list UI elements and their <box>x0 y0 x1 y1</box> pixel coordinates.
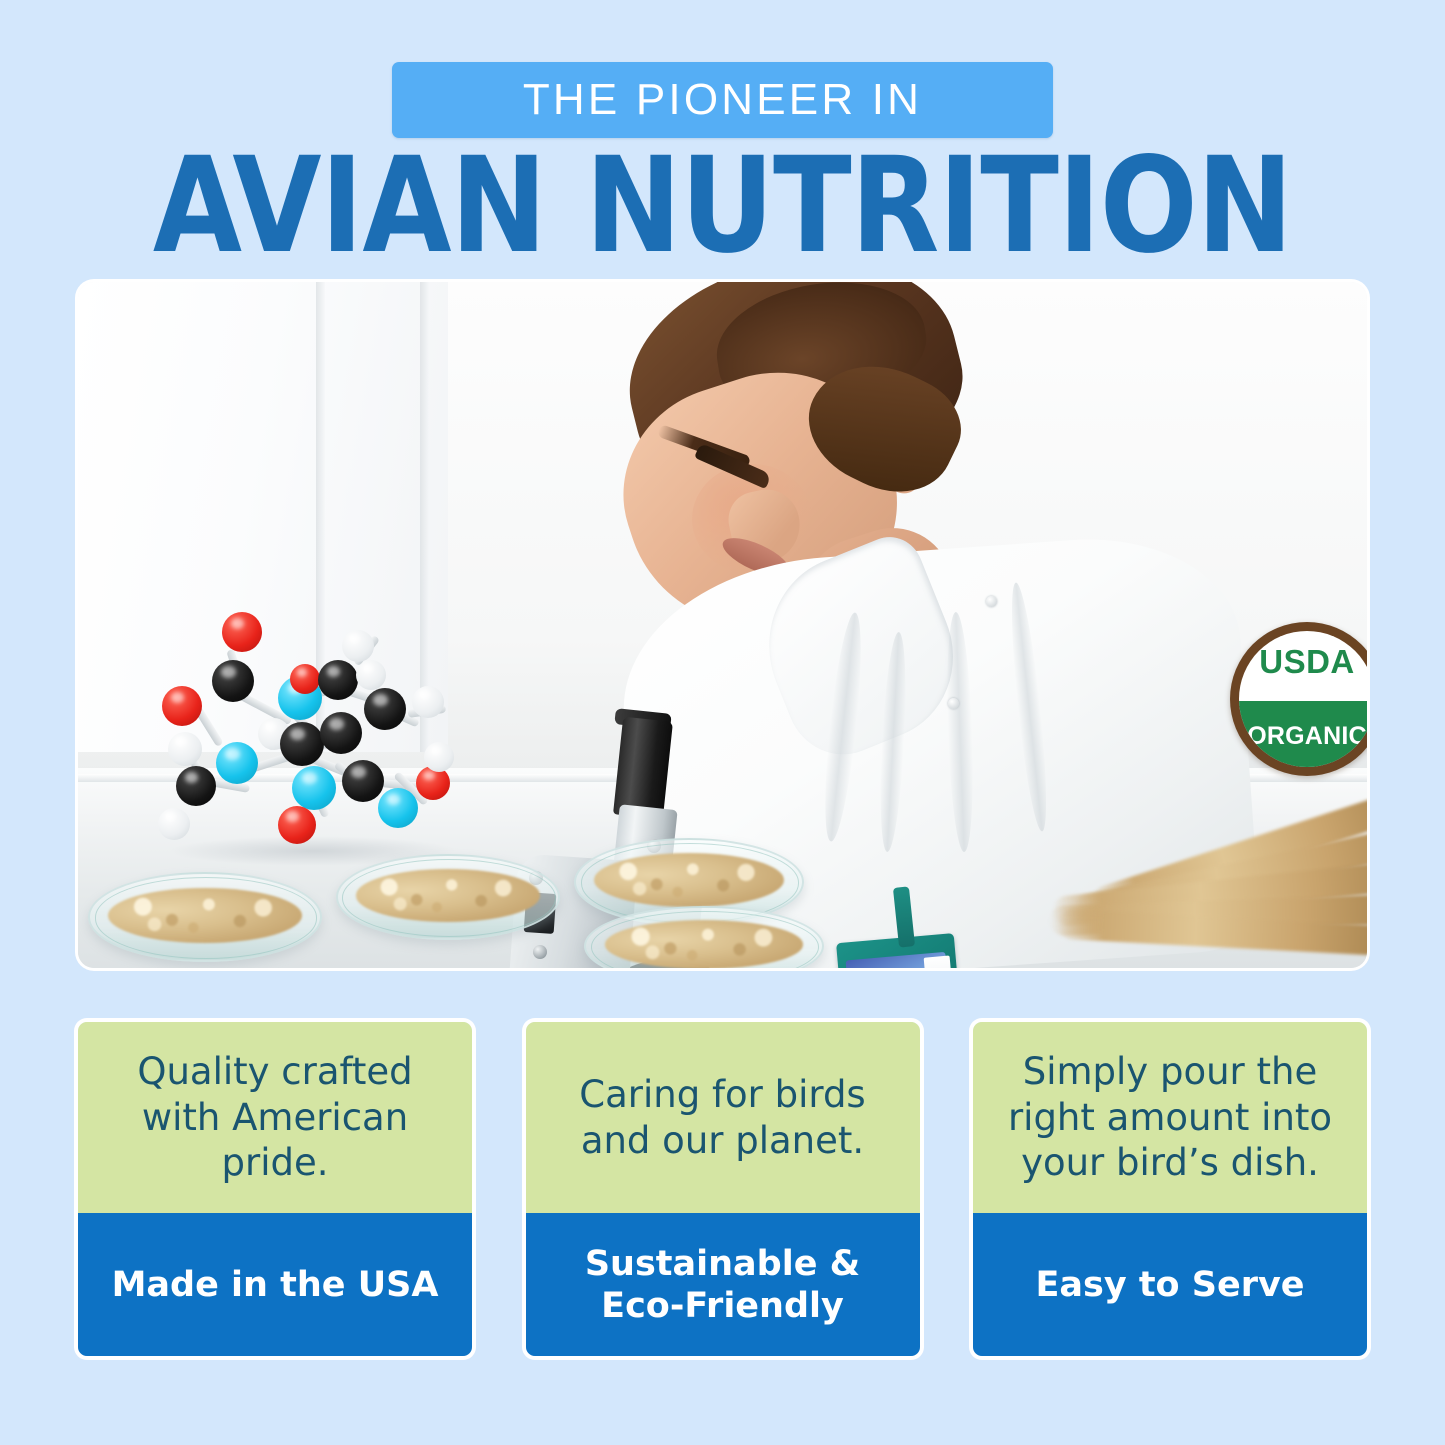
molecule-atom-hydrogen <box>342 630 374 662</box>
page-title: AVIAN NUTRITION <box>22 140 1424 272</box>
feature-card-description-panel: Simply pour the right amount into your b… <box>973 1022 1367 1213</box>
eyebrow-banner: THE PIONEER IN <box>392 62 1053 138</box>
molecule-atom-carbon <box>212 660 254 702</box>
usda-organic-seal: USDA ORGANIC <box>1230 622 1367 776</box>
molecule-atom-oxygen <box>162 686 202 726</box>
petri-dish <box>336 854 560 940</box>
molecule-atom-carbon <box>342 760 384 802</box>
header: THE PIONEER IN AVIAN NUTRITION <box>0 0 1445 262</box>
molecular-model <box>150 600 470 860</box>
feature-card-label-panel: Made in the USA <box>78 1213 472 1356</box>
molecule-atom-hydrogen <box>158 808 190 840</box>
feature-card-description: Quality crafted with American pride. <box>94 1049 456 1186</box>
grain-sample <box>356 869 541 921</box>
molecule-atom-carbon <box>320 712 362 754</box>
usda-seal-bottom-text: ORGANIC <box>1239 724 1367 749</box>
feature-card-label: Easy to Serve <box>1035 1264 1304 1306</box>
molecule-atom-nitrogen <box>378 788 418 828</box>
molecule-atom-carbon <box>176 766 216 806</box>
petri-dish <box>88 872 322 962</box>
molecule-atom-oxygen <box>222 612 262 652</box>
coat-button <box>986 596 997 607</box>
molecule-atom-oxygen <box>290 664 320 694</box>
feature-card-row: Quality crafted with American pride. Mad… <box>78 1022 1367 1356</box>
wheat-stalks <box>1017 768 1367 968</box>
feature-card-description-panel: Quality crafted with American pride. <box>78 1022 472 1213</box>
grain-sample <box>605 920 803 968</box>
feature-card-label-panel: Easy to Serve <box>973 1213 1367 1356</box>
id-badge-strip <box>924 955 954 968</box>
grain-sample <box>108 888 301 943</box>
microscope-screw <box>533 945 547 959</box>
molecule-atom-hydrogen <box>168 732 202 766</box>
molecule-atom-carbon <box>318 660 358 700</box>
eyebrow-text: THE PIONEER IN <box>523 78 922 122</box>
feature-card-description: Simply pour the right amount into your b… <box>989 1049 1351 1186</box>
grain-sample <box>594 853 784 907</box>
feature-card: Quality crafted with American pride. Mad… <box>78 1022 472 1356</box>
feature-card-label: Sustainable & Eco-Friendly <box>540 1243 906 1327</box>
feature-card-description: Caring for birds and our planet. <box>542 1072 904 1163</box>
feature-card-label-panel: Sustainable & Eco-Friendly <box>526 1213 920 1356</box>
feature-card: Caring for birds and our planet. Sustain… <box>526 1022 920 1356</box>
hero-photo: USDA ORGANIC <box>78 282 1367 968</box>
usda-seal-top-text: USDA <box>1239 645 1367 678</box>
molecule-atom-nitrogen <box>292 766 336 810</box>
molecule-atom-hydrogen <box>356 660 386 690</box>
molecule-atom-nitrogen <box>216 742 258 784</box>
feature-card-description-panel: Caring for birds and our planet. <box>526 1022 920 1213</box>
coat-button <box>948 698 959 709</box>
molecule-atom-carbon <box>364 688 406 730</box>
molecule-atom-oxygen <box>278 806 316 844</box>
feature-card: Simply pour the right amount into your b… <box>973 1022 1367 1356</box>
molecule-atom-hydrogen <box>424 742 454 772</box>
feature-card-label: Made in the USA <box>112 1264 439 1306</box>
molecule-atom-hydrogen <box>412 686 444 718</box>
usda-seal-inner: USDA ORGANIC <box>1239 631 1367 767</box>
molecule-atom-carbon <box>280 722 324 766</box>
